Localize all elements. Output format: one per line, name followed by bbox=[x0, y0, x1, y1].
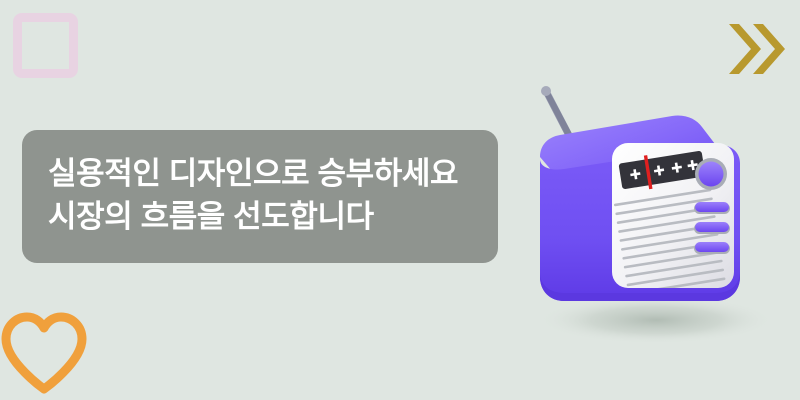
heart-outline-icon bbox=[0, 310, 90, 396]
radio-ground-shadow bbox=[538, 296, 774, 344]
banner-root: 실용적인 디자인으로 승부하세요 시장의 흐름을 선도합니다 bbox=[0, 0, 800, 400]
headline-line-1: 실용적인 디자인으로 승부하세요 bbox=[48, 152, 472, 195]
rounded-square-outline-icon bbox=[13, 13, 78, 78]
radio-illustration bbox=[520, 35, 790, 345]
headline-line-2: 시장의 흐름을 선도합니다 bbox=[48, 195, 472, 238]
radio-antenna-tip bbox=[541, 86, 551, 96]
radio-volume-knob bbox=[695, 158, 727, 190]
headline-plate: 실용적인 디자인으로 승부하세요 시장의 흐름을 선도합니다 bbox=[22, 130, 498, 263]
radio-control-buttons bbox=[694, 202, 730, 254]
